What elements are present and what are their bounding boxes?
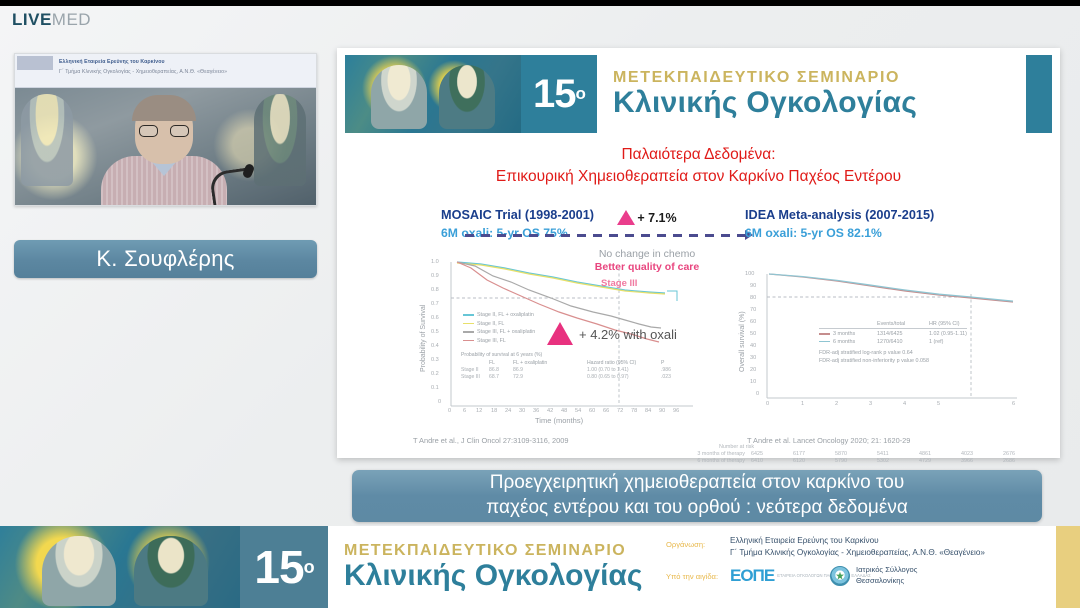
idea-block: IDEA Meta-analysis (2007-2015) 6M oxali:… xyxy=(745,208,934,240)
delta-block: + 7.1% xyxy=(542,209,752,227)
footer-artwork xyxy=(0,526,240,608)
footer-edition-degree: o xyxy=(304,557,314,578)
footer-organizers: Οργάνωση: Ελληνική Εταιρεία Ερεύνης του … xyxy=(658,526,1056,608)
glasses-icon xyxy=(139,125,189,137)
slide-title-line1: Παλαιότερα Δεδομένα: xyxy=(337,144,1060,166)
video-overlay-line2: Γ΄ Τμήμα Κλινικής Ογκολογίας - Χημειοθερ… xyxy=(59,69,227,75)
mosaic-x-axis-label: Time (months) xyxy=(535,416,583,425)
legend-item: Stage II, FL + oxaliplatin xyxy=(463,312,535,318)
idea-note-1: FDR-adj stratified log-rank p value 0.64 xyxy=(819,349,967,357)
speaker-video[interactable]: Ελληνική Εταιρεία Ερεύνης του Καρκίνου Γ… xyxy=(14,53,317,206)
legend-label: Stage II, FL + oxaliplatin xyxy=(477,312,534,318)
legend-label: Stage II, FL xyxy=(477,321,504,327)
video-slide-overlay: Ελληνική Εταιρεία Ερεύνης του Καρκίνου Γ… xyxy=(15,54,316,88)
presentation-slide[interactable]: 15o ΜΕΤΕΚΠΑΙΔΕΥΤΙΚΟ ΣΕΜΙΝΑΡΙΟ Κλινικής Ο… xyxy=(337,48,1060,458)
speaker-name-banner: Κ. Σουφλέρης xyxy=(14,240,317,278)
brand-live: LIVE xyxy=(12,10,52,29)
seminar-title: Κλινικής Ογκολογίας xyxy=(613,87,1026,119)
legend-label: Stage III, FL xyxy=(477,338,506,344)
legend-item: 6 months 1270/6410 1 (ref) xyxy=(819,339,967,345)
speaker-name: Κ. Σουφλέρης xyxy=(96,246,234,272)
screen: LIVEMED Ελληνική Εταιρεία Ερεύνης του Κα… xyxy=(0,0,1080,608)
triangle-up-icon xyxy=(617,210,635,225)
idea-legend-stats: Events/total HR (95% CI) 3 months 1314/6… xyxy=(819,321,967,365)
mosaic-table-caption: Probability of survival at 6 years (%) xyxy=(461,352,676,358)
table-row: 6 months of therapy 6410 6120 5790 5302 … xyxy=(673,458,1045,465)
idea-subtext: 6M oxali: 5-yr OS 82.1% xyxy=(745,226,934,240)
footer-title: Κλινικής Ογκολογίας xyxy=(344,560,658,592)
legend-item: Stage III, FL + oxaliplatin xyxy=(463,329,535,335)
backdrop-icon-left xyxy=(21,94,73,186)
talk-title-line1: Προεγχειρητική χημειοθεραπεία στον καρκί… xyxy=(486,471,908,496)
speaker-hair xyxy=(132,95,196,121)
number-at-risk-table: Number at risk 3 months of therapy 6425 … xyxy=(673,444,1045,465)
organizer-line1: Ελληνική Εταιρεία Ερεύνης του Καρκίνου xyxy=(730,536,879,545)
legend-item: Stage III, FL xyxy=(463,338,535,344)
idea-note-2: FDR-adj stratified non-inferiority p val… xyxy=(819,357,967,365)
isth-name: Ιατρικός Σύλλογος Θεσσαλονίκης xyxy=(856,565,917,586)
citation-right: T Andre et al. Lancet Oncology 2020; 21:… xyxy=(747,436,910,445)
isth-line2: Θεσσαλονίκης xyxy=(856,576,904,585)
dashed-connector xyxy=(465,234,747,237)
organizer-label: Οργάνωση: xyxy=(666,540,705,549)
footer-bar: 15o ΜΕΤΕΚΠΑΙΔΕΥΤΙΚΟ ΣΕΜΙΝΑΡΙΟ Κλινικής Ο… xyxy=(0,526,1080,608)
artwork-figure-left xyxy=(371,65,427,129)
isth-line1: Ιατρικός Σύλλογος xyxy=(856,565,917,574)
eope-mark: ΕΟΠΕ xyxy=(730,566,774,586)
microphone-icon xyxy=(211,164,253,204)
organizer-line2: Γ΄ Τμήμα Κλινικής Ογκολογίας - Χημειοθερ… xyxy=(730,548,985,557)
slide-header-edition: 15o xyxy=(521,55,597,133)
table-row: 3 months of therapy 6425 6177 5870 5411 … xyxy=(673,451,1045,458)
mosaic-y-axis-label: Probability of Survival xyxy=(420,305,427,372)
speaker-person xyxy=(101,98,227,206)
table-header-row: FL FL + oxaliplatin Hazard ratio (95% CI… xyxy=(461,360,676,367)
oxali-gain-annotation: + 4.2% with oxali xyxy=(579,327,677,342)
mosaic-legend: Stage II, FL + oxaliplatin Stage II, FL … xyxy=(463,312,535,346)
stats-header-row: Events/total HR (95% CI) xyxy=(819,321,967,329)
brand-med: MED xyxy=(52,10,91,29)
aegis-label: Υπό την αιγίδα: xyxy=(666,572,718,581)
talk-title-line2: παχέος εντέρου και του ορθού : νεότερα δ… xyxy=(486,496,908,521)
legend-label: 3 months xyxy=(833,331,877,337)
idea-os-chart: Overall survival (%) 100 90 80 70 60 50 … xyxy=(727,266,1027,438)
delta-value: + 7.1% xyxy=(637,211,676,225)
talk-title-bar: Προεγχειρητική χημειοθεραπεία στον καρκί… xyxy=(352,470,1042,522)
isth-logo: Ιατρικός Σύλλογος Θεσσαλονίκης xyxy=(830,565,917,586)
triangle-up-large-icon xyxy=(547,322,573,345)
edition-degree: o xyxy=(576,84,585,104)
slide-header-endcap xyxy=(1026,55,1052,133)
idea-heading: IDEA Meta-analysis (2007-2015) xyxy=(745,208,934,222)
edition-number: 15 xyxy=(533,72,576,117)
footer-edition-number: 15 xyxy=(254,540,303,594)
mosaic-km-chart: Probability of Survival Time (months) 1.… xyxy=(411,254,703,432)
footer-figure-left xyxy=(42,536,116,606)
seminar-kicker: ΜΕΤΕΚΠΑΙΔΕΥΤΙΚΟ ΣΕΜΙΝΑΡΙΟ xyxy=(613,69,1026,87)
video-overlay-line1: Ελληνική Εταιρεία Ερεύνης του Καρκίνου xyxy=(59,59,165,65)
slide-header: 15o ΜΕΤΕΚΠΑΙΔΕΥΤΙΚΟ ΣΕΜΙΝΑΡΙΟ Κλινικής Ο… xyxy=(345,55,1052,133)
table-row: Stage III 68.7 72.9 0.80 (0.65 to 0.97) … xyxy=(461,374,676,381)
footer-edition: 15o xyxy=(240,526,328,608)
footer-figure-right xyxy=(134,536,208,606)
stage3-annotation: Stage III xyxy=(601,278,637,289)
table-row: Stage II 86.8 86.9 1.00 (0.70 to 1.41) .… xyxy=(461,367,676,374)
artwork-figure-right xyxy=(439,65,495,129)
medical-seal-icon xyxy=(830,566,850,586)
backdrop-icon-right xyxy=(254,94,306,186)
footer-title-block: ΜΕΤΕΚΠΑΙΔΕΥΤΙΚΟ ΣΕΜΙΝΑΡΙΟ Κλινικής Ογκολ… xyxy=(328,526,658,608)
citation-left: T Andre et al., J Clin Oncol 27:3109-311… xyxy=(413,436,568,445)
legend-label: 6 months xyxy=(833,339,877,345)
slide-header-text: ΜΕΤΕΚΠΑΙΔΕΥΤΙΚΟ ΣΕΜΙΝΑΡΙΟ Κλινικής Ογκολ… xyxy=(597,55,1026,133)
livemed-logo[interactable]: LIVEMED xyxy=(12,10,91,30)
mosaic-stats-table: Probability of survival at 6 years (%) F… xyxy=(461,352,676,382)
legend-label: Stage III, FL + oxaliplatin xyxy=(477,329,535,335)
legend-item: 3 months 1314/6425 1.02 (0.95-1.11) xyxy=(819,331,967,337)
idea-y-axis-label: Overall survival (%) xyxy=(739,311,746,372)
slide-header-artwork xyxy=(345,55,521,133)
footer-kicker: ΜΕΤΕΚΠΑΙΔΕΥΤΙΚΟ ΣΕΜΙΝΑΡΙΟ xyxy=(344,542,658,560)
mosaic-subtext: 6M oxali: 5-yr OS 75% xyxy=(441,226,594,240)
legend-item: Stage II, FL xyxy=(463,321,535,327)
footer-gold-edge xyxy=(1056,526,1080,608)
slide-title-line2: Επικουρική Χημειοθεραπεία στον Καρκίνο Π… xyxy=(337,166,1060,188)
slide-title: Παλαιότερα Δεδομένα: Επικουρική Χημειοθε… xyxy=(337,144,1060,189)
video-slide-tag xyxy=(17,56,53,70)
video-photo xyxy=(15,88,316,206)
